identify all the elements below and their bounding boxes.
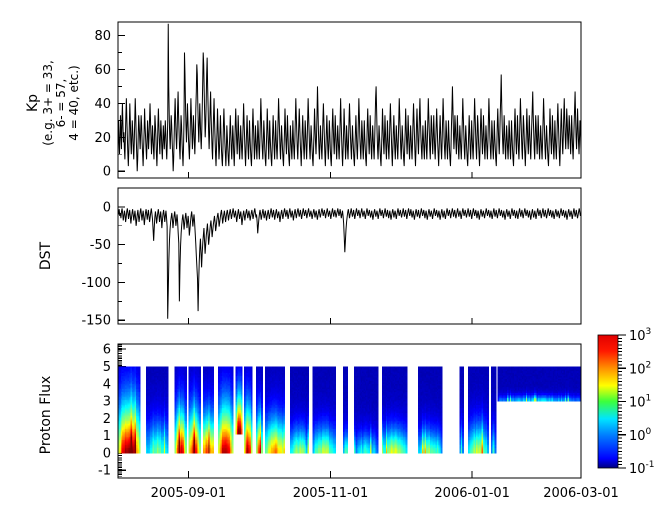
- heatmap-cell: [167, 451, 169, 453]
- kp-axis-title: Kp: [25, 94, 41, 112]
- y-tick-label: 0: [103, 200, 111, 215]
- kp-axis-subtitle-line2: 6- = 57,: [54, 79, 68, 128]
- y-tick-label: 4: [103, 377, 111, 392]
- heatmap-cell: [241, 432, 243, 434]
- heatmap-cell: [185, 451, 187, 453]
- y-tick-label: 3: [103, 395, 111, 410]
- y-tick-label: 40: [94, 97, 111, 112]
- heatmap-cell: [261, 451, 263, 453]
- y-tick-label: 6: [103, 343, 111, 358]
- y-tick-label: 60: [94, 63, 111, 78]
- y-tick-label: 80: [94, 29, 111, 44]
- heatmap-cell: [231, 451, 233, 453]
- kp-axis-subtitle-line1: (e.g. 3+ = 33,: [41, 60, 55, 146]
- dst-axis-title: DST: [38, 241, 54, 270]
- heatmap-cell: [251, 451, 253, 453]
- y-tick-label: -100: [81, 276, 111, 291]
- heatmap-cell: [212, 451, 214, 453]
- heatmap-cell: [199, 451, 201, 453]
- proton-flux-kp-dst-figure: Kp (e.g. 3+ = 33, 6- = 57, 4 = 40, etc.)…: [0, 0, 665, 523]
- y-tick-label: -1: [98, 464, 111, 479]
- proton-axis-title: Proton Flux: [38, 376, 54, 455]
- y-tick-label: 0: [103, 446, 111, 461]
- y-tick-label: 2: [103, 412, 111, 427]
- kp-axis-subtitle-line3: 4 = 40, etc.): [67, 65, 81, 140]
- y-tick-label: 1: [103, 429, 111, 444]
- y-tick-label: 0: [103, 165, 111, 180]
- y-tick-label: -50: [90, 238, 111, 253]
- y-tick-label: 20: [94, 131, 111, 146]
- heatmap-cell: [139, 451, 141, 453]
- y-tick-label: -150: [81, 314, 111, 329]
- y-tick-label: 5: [103, 360, 111, 375]
